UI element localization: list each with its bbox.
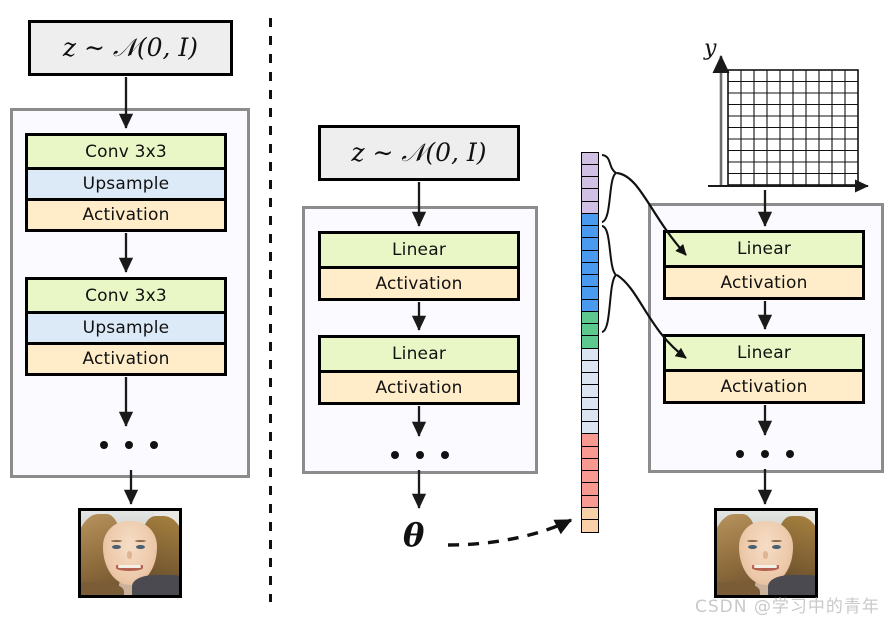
left-latent-box: z ∼ 𝒩(0, I) — [28, 20, 233, 76]
vector-brace-1 — [602, 155, 616, 222]
left-block2-row-upsample: Upsample — [28, 311, 224, 342]
middle-latent-label: z ∼ 𝒩(0, I) — [351, 138, 486, 168]
figure-canvas: z ∼ 𝒩(0, I) Conv 3x3 Upsample Activation… — [0, 0, 896, 621]
theta-symbol: θ — [403, 516, 424, 554]
left-ellipsis — [100, 440, 158, 450]
weight-vector-cell — [581, 519, 599, 533]
predicted-weight-vector — [581, 153, 599, 533]
right-block2-row-linear: Linear — [666, 337, 862, 369]
right-block1-row-linear: Linear — [666, 233, 862, 265]
coordinate-grid — [708, 56, 868, 186]
middle-latent-box: z ∼ 𝒩(0, I) — [318, 125, 520, 181]
vector-brace-2 — [602, 226, 616, 332]
right-linear-block-1: Linear Activation — [663, 230, 865, 300]
right-block2-row-activation: Activation — [666, 369, 862, 401]
middle-linear-block-2: Linear Activation — [318, 335, 520, 405]
watermark: CSDN @学习中的青年 — [695, 592, 880, 617]
middle-block1-row-linear: Linear — [321, 234, 517, 266]
middle-block2-row-linear: Linear — [321, 338, 517, 370]
theta-to-vector-arrow — [448, 520, 571, 545]
left-block1-row-upsample: Upsample — [28, 167, 224, 198]
right-output-image — [714, 508, 818, 598]
left-output-image — [78, 508, 182, 598]
grid-y-axis-label: y — [704, 36, 716, 61]
middle-block2-row-activation: Activation — [321, 370, 517, 402]
left-block2-row-activation: Activation — [28, 342, 224, 373]
middle-ellipsis — [391, 450, 449, 460]
right-ellipsis — [736, 449, 794, 459]
left-block2-row-conv: Conv 3x3 — [28, 280, 224, 311]
left-latent-label: z ∼ 𝒩(0, I) — [63, 33, 198, 63]
left-block1-row-conv: Conv 3x3 — [28, 136, 224, 167]
right-block1-row-activation: Activation — [666, 265, 862, 297]
middle-block1-row-activation: Activation — [321, 266, 517, 298]
right-linear-block-2: Linear Activation — [663, 334, 865, 404]
left-conv-block-2: Conv 3x3 Upsample Activation — [25, 277, 227, 376]
middle-linear-block-1: Linear Activation — [318, 231, 520, 301]
left-block1-row-activation: Activation — [28, 198, 224, 229]
grid-x-axis-label: x — [818, 166, 830, 191]
left-conv-block-1: Conv 3x3 Upsample Activation — [25, 133, 227, 232]
